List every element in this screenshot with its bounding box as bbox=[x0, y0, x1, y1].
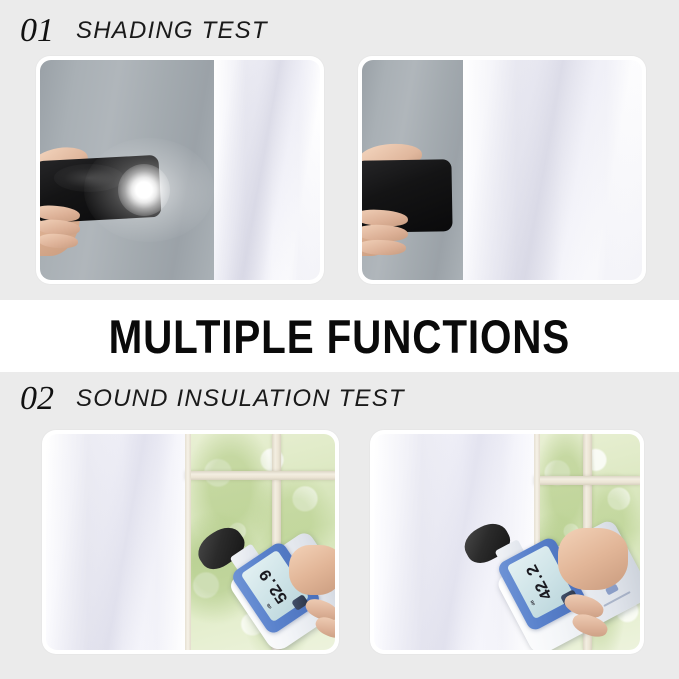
hand-palm bbox=[558, 528, 628, 590]
section-header-02: 02 SOUND INSULATION TEST bbox=[0, 376, 679, 422]
shading-photo-1 bbox=[40, 60, 320, 280]
shading-panel-flashlight-on bbox=[36, 56, 324, 284]
section-title-01: SHADING TEST bbox=[76, 17, 268, 45]
finger-3 bbox=[362, 239, 406, 256]
white-curtain bbox=[214, 60, 320, 280]
sound-photo-1: 52.9 dB bbox=[46, 434, 335, 650]
section-header-01: 01 SHADING TEST bbox=[0, 8, 679, 54]
meter-reading: 42.2 bbox=[524, 561, 558, 602]
white-curtain bbox=[463, 60, 642, 280]
sound-level-meter: 42.2 dB bbox=[460, 520, 640, 650]
shading-panel-flashlight-blocked bbox=[358, 56, 646, 284]
product-infographic: 01 SHADING TEST bbox=[0, 0, 679, 679]
meter-unit: dB bbox=[265, 603, 272, 610]
white-curtain bbox=[46, 434, 185, 650]
section-number-01: 01 bbox=[20, 14, 54, 48]
shading-photo-2 bbox=[362, 60, 642, 280]
banner-title: MULTIPLE FUNCTIONS bbox=[109, 309, 571, 364]
meter-reading: 52.9 bbox=[257, 565, 293, 606]
sound-level-meter: 52.9 dB bbox=[193, 527, 335, 650]
sound-panel-window-open: 52.9 dB bbox=[42, 430, 339, 654]
sound-panel-behind-curtain: 42.2 dB bbox=[370, 430, 644, 654]
window-mullion-horizontal bbox=[185, 471, 335, 480]
section-title-02: SOUND INSULATION TEST bbox=[76, 385, 405, 413]
section-number-02: 02 bbox=[20, 382, 54, 416]
sound-photo-2: 42.2 dB bbox=[374, 434, 640, 650]
flashlight-led bbox=[118, 164, 170, 216]
hand-palm bbox=[289, 545, 335, 595]
meter-unit: dB bbox=[529, 599, 536, 606]
window-frame-edge bbox=[185, 434, 191, 650]
window-mullion-horizontal bbox=[534, 476, 640, 485]
banner: MULTIPLE FUNCTIONS bbox=[0, 300, 679, 372]
